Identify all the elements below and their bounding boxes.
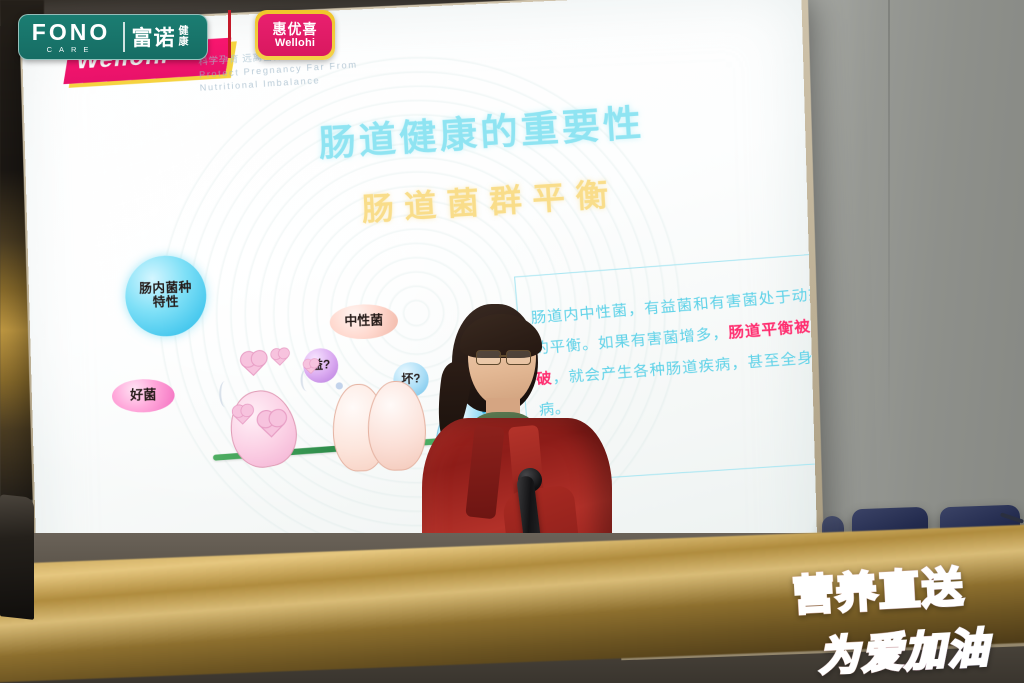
bubble-main-line2: 特性 bbox=[139, 295, 192, 310]
fono-chinese-stack: 健 康 bbox=[179, 26, 189, 48]
logo-separator bbox=[228, 10, 231, 58]
motion-squiggle-2 bbox=[300, 369, 313, 392]
fono-logo-divider bbox=[123, 22, 125, 52]
wellohi-logo: 惠优喜 Wellohi bbox=[255, 10, 335, 60]
watermark-line-1: 营养直送 bbox=[791, 550, 1020, 622]
glasses-lens-right bbox=[506, 350, 531, 365]
fono-chinese-main: 富诺 bbox=[132, 22, 176, 52]
wellohi-chinese: 惠优喜 bbox=[273, 21, 318, 37]
wellohi-logo-inner: 惠优喜 Wellohi bbox=[258, 14, 332, 56]
glasses-lens-left bbox=[476, 350, 501, 365]
fono-tagline: CARE bbox=[47, 45, 96, 54]
fono-care-logo: FONO CARE 富诺 健 康 bbox=[18, 14, 208, 60]
wellohi-english: Wellohi bbox=[275, 37, 315, 49]
left-floor-speaker bbox=[0, 494, 34, 620]
bubble-good-bacteria: 好菌 bbox=[112, 378, 175, 413]
presenter-glasses bbox=[476, 350, 534, 363]
fono-chinese-block: 富诺 健 康 bbox=[132, 22, 189, 52]
screenshot-root: Wellohi 科学孕育 远离营养失衡 Protect Pregnancy Fa… bbox=[0, 0, 1024, 683]
logo-bar: FONO CARE 富诺 健 康 惠优喜 Wellohi bbox=[0, 0, 340, 66]
fono-chinese-stack-bottom: 康 bbox=[179, 37, 189, 48]
motion-squiggle-1 bbox=[219, 381, 232, 408]
wall-corner-line bbox=[888, 0, 890, 470]
watermark-line-2: 为爱加油 bbox=[816, 612, 1023, 683]
fono-chinese-stack-top: 健 bbox=[179, 26, 189, 37]
fono-wordmark-block: FONO CARE bbox=[19, 15, 123, 59]
fono-wordmark: FONO bbox=[32, 21, 110, 43]
watermark: 营养直送 为爱加油 bbox=[789, 550, 1023, 674]
